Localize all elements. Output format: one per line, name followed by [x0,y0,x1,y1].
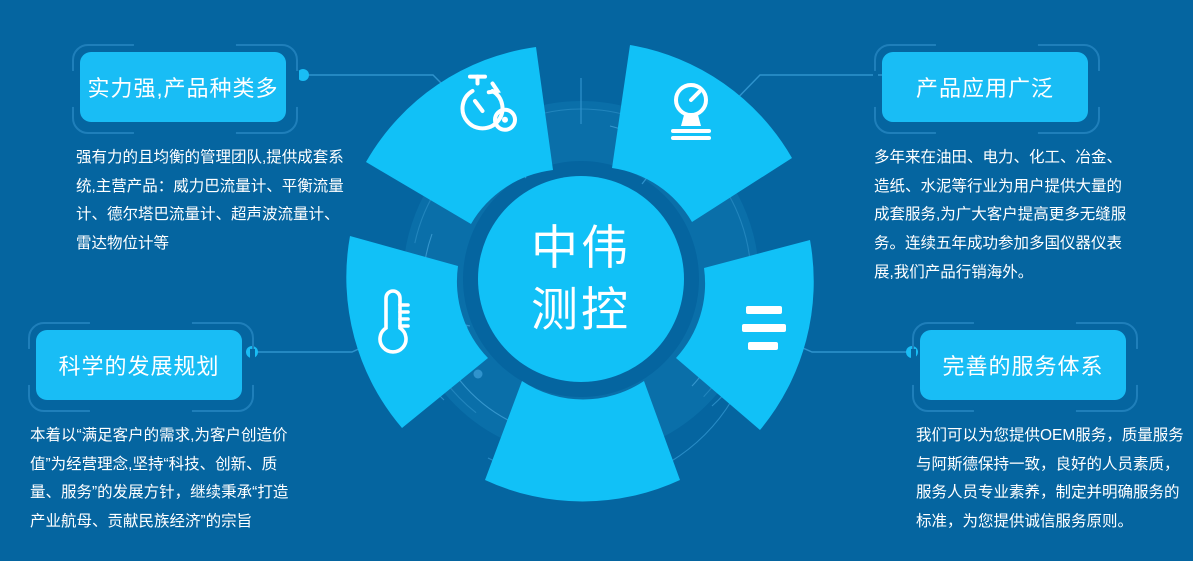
feature-title-wrap-bottom-right[interactable]: 完善的服务体系 [912,322,1134,408]
feature-bottom-right: 完善的服务体系 我们可以为您提供OEM服务，质量服务与阿斯德保持一致，良好的人员… [912,322,1162,537]
infographic-canvas: 中伟 测控 实力强,产品种类多 强有力的且均衡的管理团队,提供成套系统,主营产品… [0,0,1193,561]
central-wheel-diagram: 中伟 测控 [340,38,822,520]
feature-title-wrap-top-left[interactable]: 实力强,产品种类多 [72,44,294,130]
feature-title-top-left[interactable]: 实力强,产品种类多 [80,52,286,122]
feature-description-top-right: 多年来在油田、电力、化工、冶金、造纸、水泥等行业为用户提供大量的成套服务,为广大… [874,144,1136,287]
feature-title-bottom-right[interactable]: 完善的服务体系 [920,330,1126,400]
feature-description-bottom-right: 我们可以为您提供OEM服务，质量服务与阿斯德保持一致，良好的人员素质，服务人员专… [916,422,1184,537]
center-title-line2: 测控 [531,283,631,336]
feature-title-top-right[interactable]: 产品应用广泛 [882,52,1088,122]
center-title-line1: 中伟 [531,221,631,274]
feature-description-bottom-left: 本着以“满足客户的需求,为客户创造价值”为经营理念,坚持“科技、创新、质量、服务… [30,422,302,537]
feature-title-bottom-left[interactable]: 科学的发展规划 [36,330,242,400]
feature-description-top-left: 强有力的且均衡的管理团队,提供成套系统,主营产品：威力巴流量计、平衡流量计、德尔… [76,144,344,259]
wheel-center-disc [478,176,684,382]
feature-title-wrap-bottom-left[interactable]: 科学的发展规划 [28,322,250,408]
feature-bottom-left: 科学的发展规划 本着以“满足客户的需求,为客户创造价值”为经营理念,坚持“科技、… [28,322,278,537]
feature-top-right: 产品应用广泛 多年来在油田、电力、化工、冶金、造纸、水泥等行业为用户提供大量的成… [874,44,1124,287]
feature-title-wrap-top-right[interactable]: 产品应用广泛 [874,44,1096,130]
feature-top-left: 实力强,产品种类多 强有力的且均衡的管理团队,提供成套系统,主营产品：威力巴流量… [72,44,312,259]
